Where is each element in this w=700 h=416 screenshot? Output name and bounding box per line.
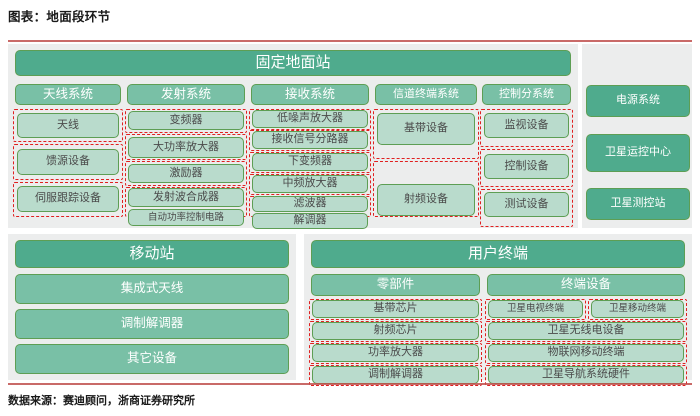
item-transmit-1[interactable]: 变频器 <box>128 111 244 130</box>
item-antenna-3[interactable]: 伺服跟踪设备 <box>17 186 119 212</box>
subsystem-header-control[interactable]: 控制分系统 <box>482 84 571 105</box>
user-terminal-header[interactable]: 用户终端 <box>311 240 685 268</box>
subsystem-header-transmit[interactable]: 发射系统 <box>127 84 245 105</box>
page-title: 图表：地面段环节 <box>8 6 110 25</box>
mobile-station-item-2[interactable]: 调制解调器 <box>15 309 289 339</box>
item-device-mobile-terminal[interactable]: 卫星移动终端 <box>591 300 684 318</box>
mobile-station-item-3[interactable]: 其它设备 <box>15 344 289 374</box>
ground-segment-diagram: 固定地面站 天线系统 发射系统 接收系统 信道终端系统 控制分系统 天线 馈源设… <box>8 44 692 380</box>
item-receive-1[interactable]: 低噪声放大器 <box>252 110 368 128</box>
source-note: 数据来源：赛迪顾问，浙商证券研究所 <box>8 392 195 408</box>
item-channel-2[interactable]: 射频设备 <box>377 184 475 216</box>
user-terminal-subheader-devices[interactable]: 终端设备 <box>487 274 685 296</box>
item-receive-3[interactable]: 下变频器 <box>252 153 368 171</box>
item-device-tv-terminal[interactable]: 卫星电视终端 <box>488 300 583 318</box>
mobile-station-item-1[interactable]: 集成式天线 <box>15 274 289 304</box>
divider-bottom <box>8 383 692 385</box>
item-receive-5[interactable]: 滤波器 <box>252 196 368 212</box>
item-control-3[interactable]: 测试设备 <box>484 192 569 217</box>
item-receive-2[interactable]: 接收信号分路器 <box>252 131 368 149</box>
subsystem-header-channel-terminal[interactable]: 信道终端系统 <box>375 84 477 105</box>
item-component-3[interactable]: 功率放大器 <box>312 344 479 362</box>
item-component-2[interactable]: 射频芯片 <box>312 322 479 340</box>
mobile-station-header[interactable]: 移动站 <box>15 240 289 268</box>
subsystem-header-receive[interactable]: 接收系统 <box>251 84 369 105</box>
item-transmit-4[interactable]: 发射波合成器 <box>128 188 244 207</box>
item-control-1[interactable]: 监视设备 <box>484 113 569 138</box>
item-control-2[interactable]: 控制设备 <box>484 154 569 179</box>
item-device-2[interactable]: 物联网移动终端 <box>488 344 684 362</box>
item-component-4[interactable]: 调制解调器 <box>312 366 479 384</box>
item-transmit-3[interactable]: 激励器 <box>128 164 244 183</box>
item-antenna-2[interactable]: 馈源设备 <box>17 149 119 175</box>
item-device-1[interactable]: 卫星无线电设备 <box>488 322 684 340</box>
item-device-3[interactable]: 卫星导航系统硬件 <box>488 366 684 384</box>
item-transmit-2[interactable]: 大功率放大器 <box>128 137 244 158</box>
subsystem-header-antenna[interactable]: 天线系统 <box>15 84 121 105</box>
item-receive-6[interactable]: 解调器 <box>252 213 368 229</box>
side-block-power-system[interactable]: 电源系统 <box>586 85 690 117</box>
user-terminal-subheader-components[interactable]: 零部件 <box>311 274 480 296</box>
item-receive-4[interactable]: 中频放大器 <box>252 175 368 193</box>
item-component-1[interactable]: 基带芯片 <box>312 300 479 318</box>
fixed-ground-station-header[interactable]: 固定地面站 <box>15 50 571 76</box>
divider-top <box>8 40 692 42</box>
item-channel-1[interactable]: 基带设备 <box>377 113 475 145</box>
item-antenna-1[interactable]: 天线 <box>17 113 119 138</box>
side-block-satellite-ops-center[interactable]: 卫星运控中心 <box>586 134 690 172</box>
side-block-satellite-tracking-station[interactable]: 卫星测控站 <box>586 188 690 220</box>
item-transmit-5[interactable]: 自动功率控制电路 <box>128 209 244 226</box>
